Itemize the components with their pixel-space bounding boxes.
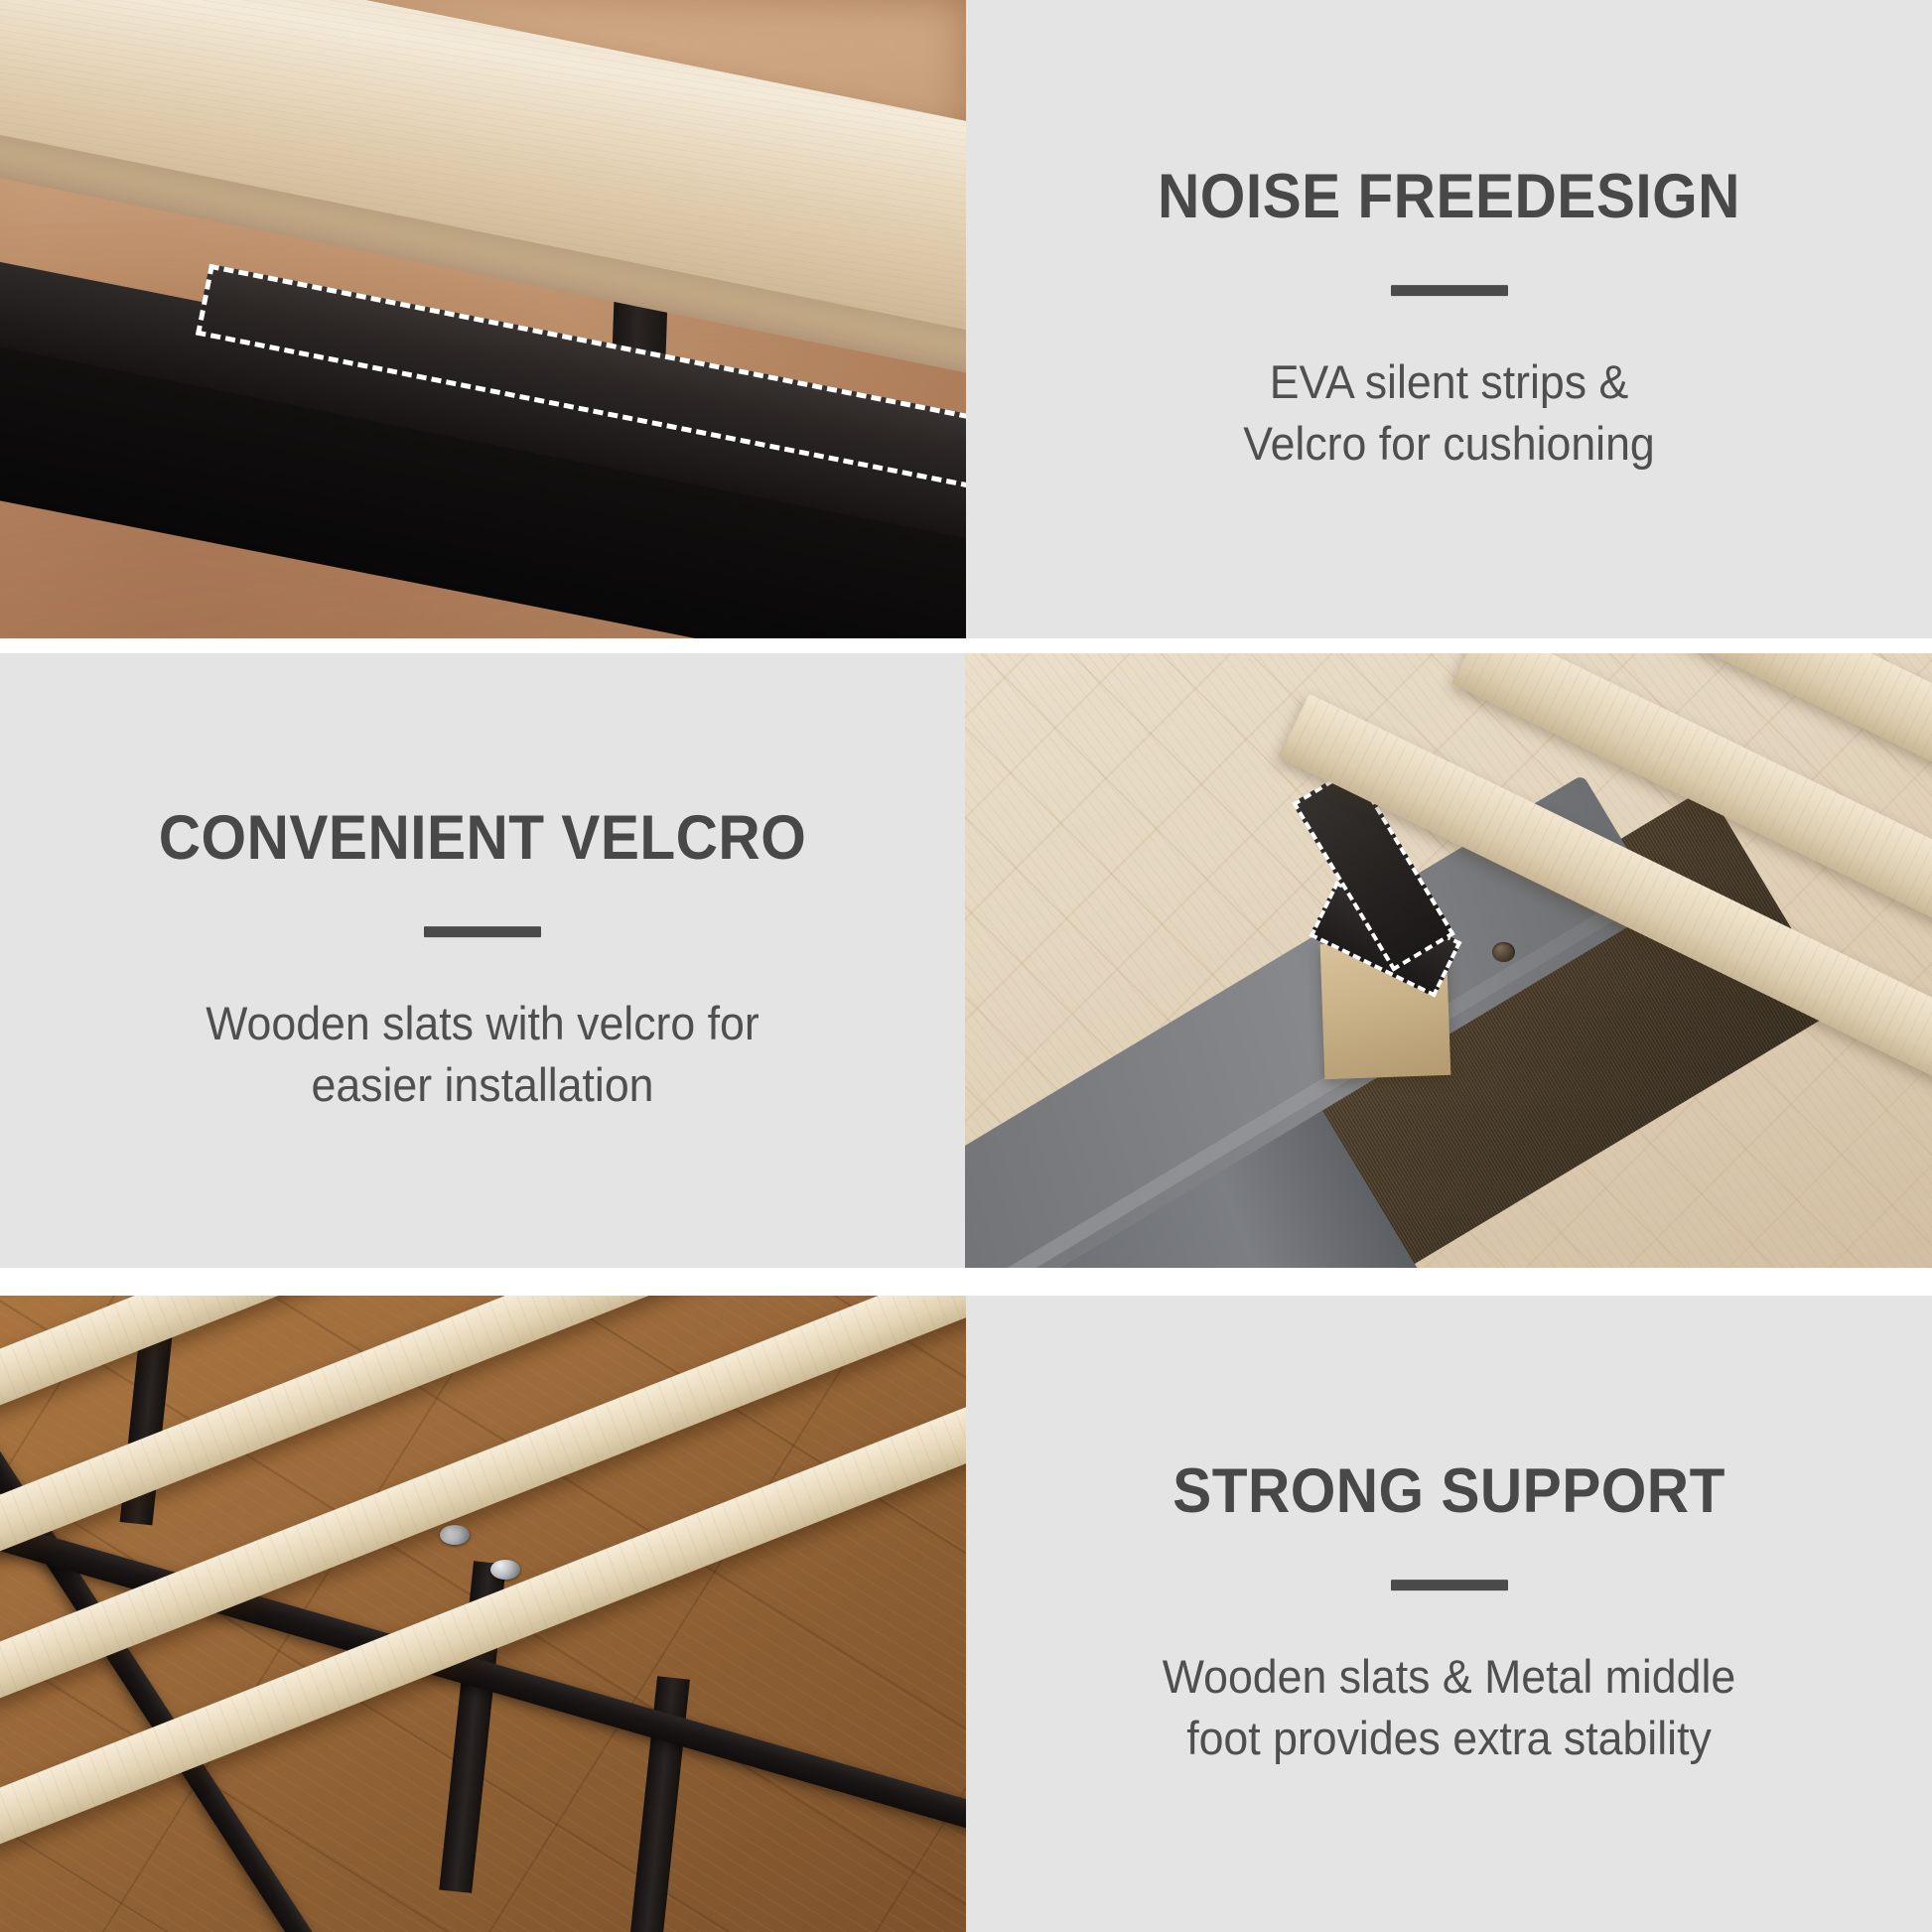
subtext-line-2: Velcro for cushioning (1034, 413, 1864, 475)
text-panel-noise-free-design: NOISE FREEDESIGN EVA silent strips & Vel… (966, 0, 1932, 638)
feature-row-strong-support: STRONG SUPPORT Wooden slats & Metal midd… (0, 1296, 1932, 1932)
subtext-convenient-velcro: Wooden slats with velcro for easier inst… (68, 993, 897, 1115)
subtext-line-2: easier installation (68, 1054, 897, 1116)
subtext-line-2: foot provides extra stability (1034, 1708, 1864, 1769)
subtext-line-1: Wooden slats with velcro for (68, 993, 897, 1054)
eva-strip-photo (0, 0, 966, 638)
photo-noise-free-design (0, 0, 966, 638)
headline-convenient-velcro: CONVENIENT VELCRO (76, 806, 889, 872)
photo-strong-support (0, 1296, 966, 1932)
bolt-2 (490, 1560, 520, 1580)
subtext-strong-support: Wooden slats & Metal middle foot provide… (1034, 1646, 1864, 1768)
product-feature-infographic: NOISE FREEDESIGN EVA silent strips & Vel… (0, 0, 1932, 1932)
feature-row-noise-free-design: NOISE FREEDESIGN EVA silent strips & Vel… (0, 0, 1932, 638)
slat-and-beam-photo (0, 1296, 966, 1932)
photo-convenient-velcro (965, 653, 1932, 1268)
bolt-1 (440, 1525, 470, 1545)
divider-rule-1 (1391, 285, 1508, 296)
text-panel-convenient-velcro: CONVENIENT VELCRO Wooden slats with velc… (0, 653, 965, 1268)
subtext-noise-free-design: EVA silent strips & Velcro for cushionin… (1034, 351, 1864, 474)
subtext-line-1: Wooden slats & Metal middle (1034, 1646, 1864, 1708)
feature-row-convenient-velcro: CONVENIENT VELCRO Wooden slats with velc… (0, 653, 1932, 1268)
divider-rule-2 (424, 926, 541, 937)
headline-noise-free-design: NOISE FREEDESIGN (1042, 165, 1856, 230)
text-panel-strong-support: STRONG SUPPORT Wooden slats & Metal midd… (966, 1296, 1932, 1932)
divider-rule-3 (1391, 1580, 1508, 1590)
velcro-corner-photo (965, 653, 1932, 1268)
subtext-line-1: EVA silent strips & (1034, 351, 1864, 413)
headline-strong-support: STRONG SUPPORT (1042, 1459, 1856, 1525)
